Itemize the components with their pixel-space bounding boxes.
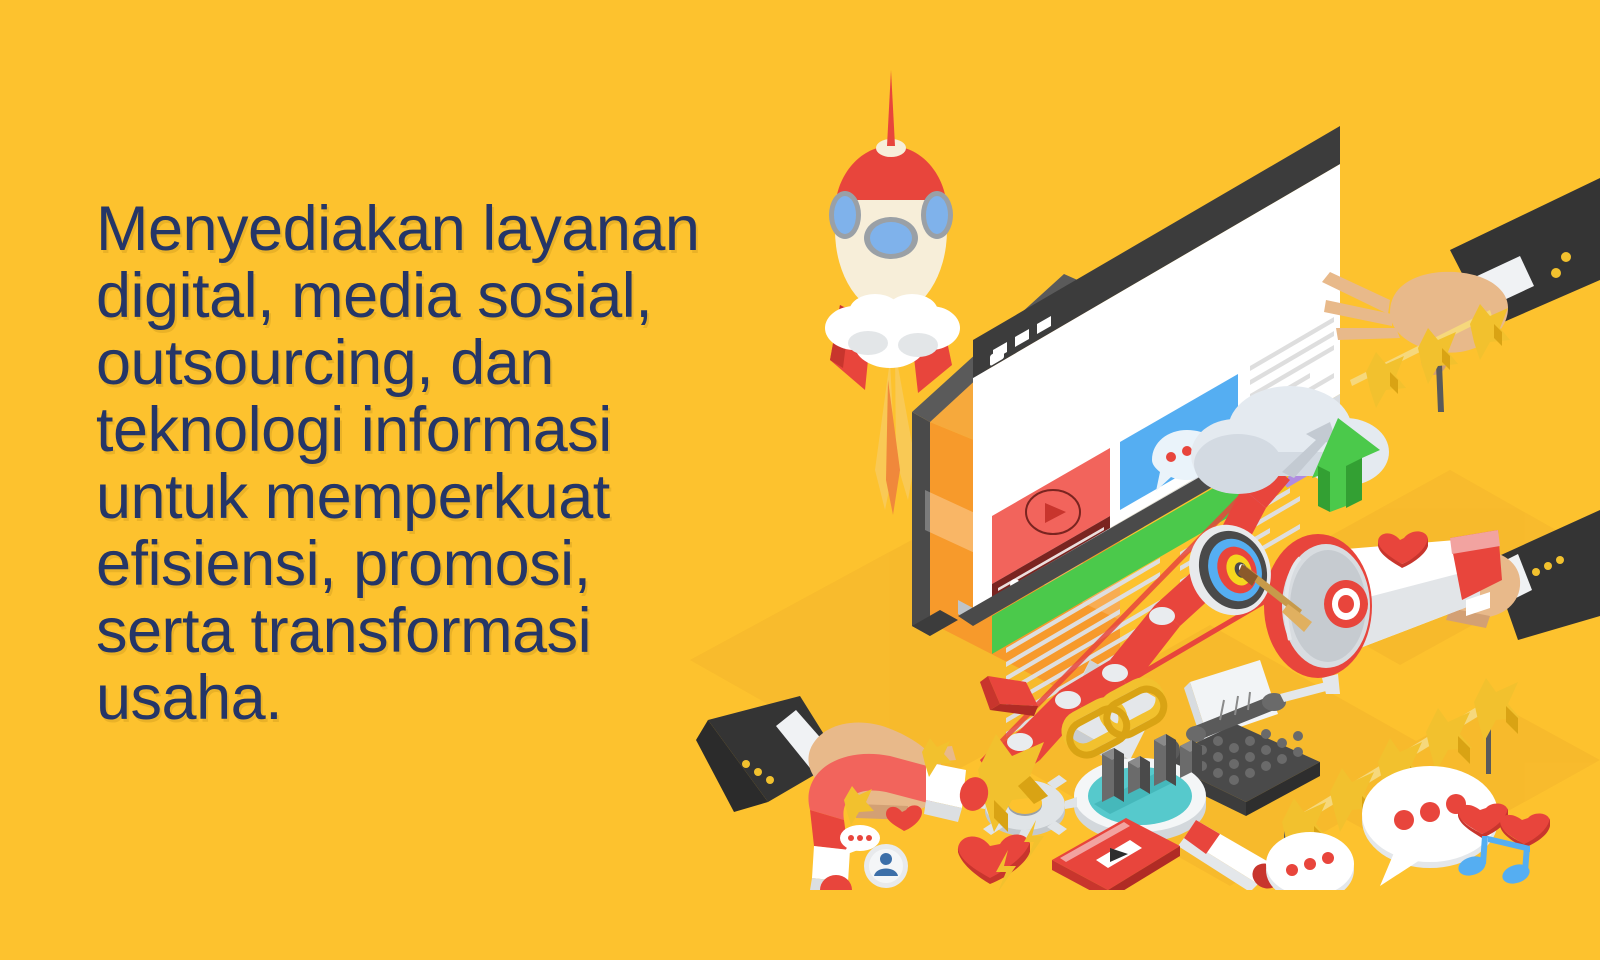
heart-red-lower — [958, 834, 1030, 884]
illustration-isometric-digital-marketing — [690, 60, 1600, 890]
page-title: Menyediakan layanan digital, media sosia… — [96, 196, 726, 732]
promo-banner: Menyediakan layanan digital, media sosia… — [0, 0, 1600, 960]
